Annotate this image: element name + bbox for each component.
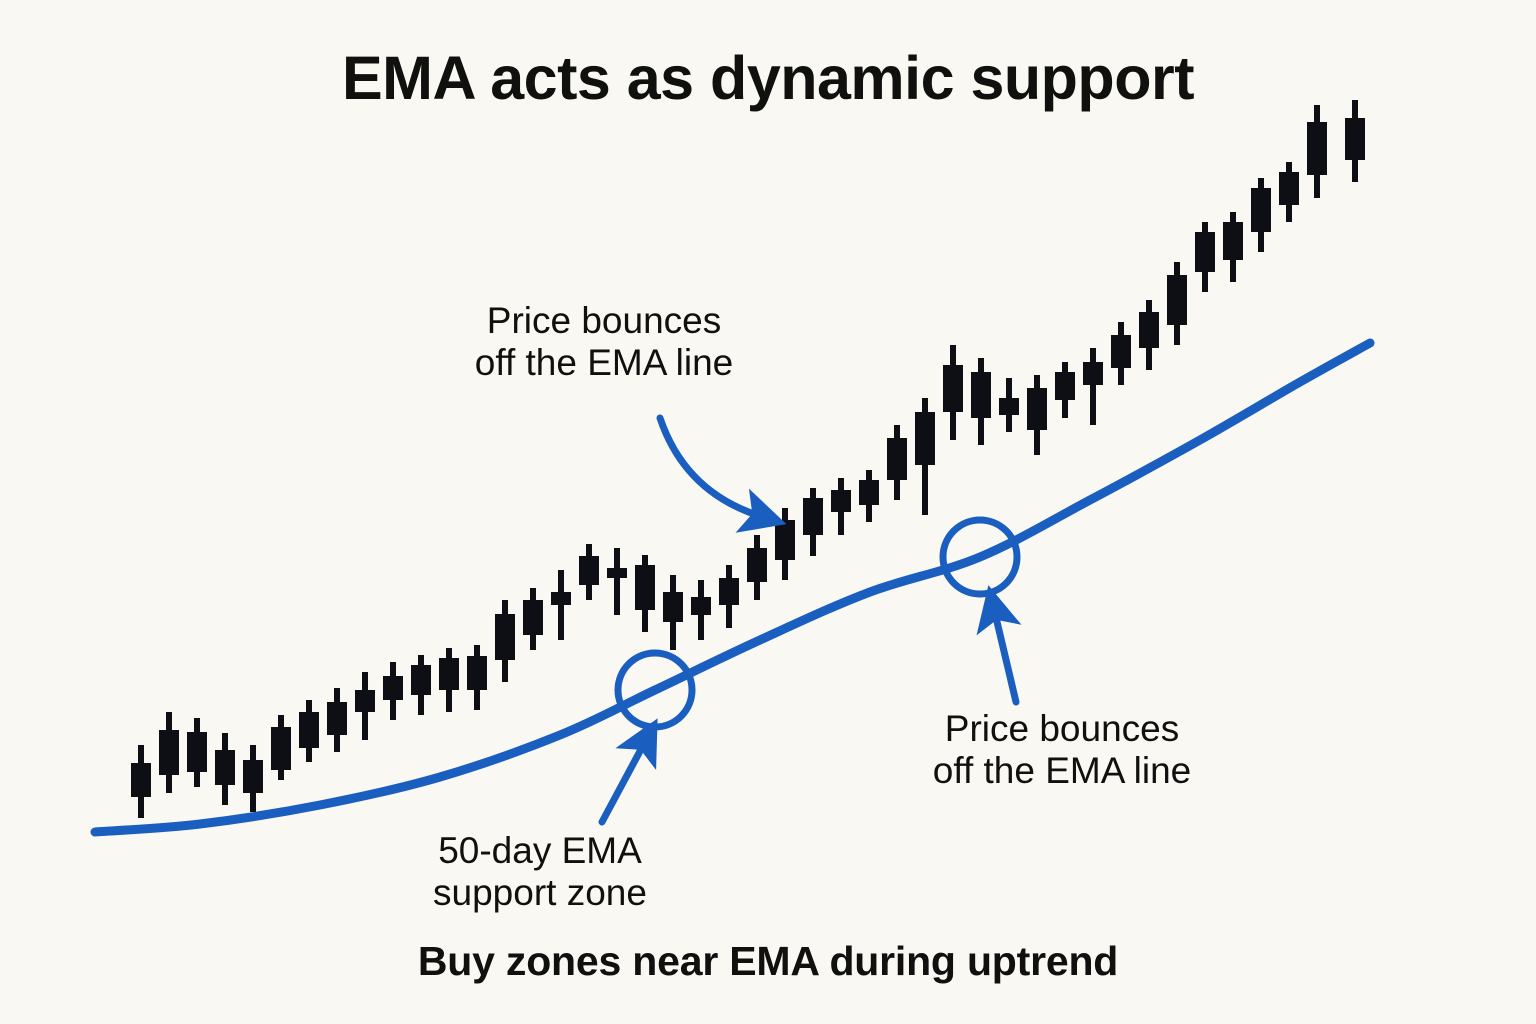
candle-body	[1279, 172, 1299, 205]
candle-body	[999, 398, 1019, 415]
candle-body	[551, 592, 571, 605]
candle-body	[635, 565, 655, 610]
candle-body	[355, 690, 375, 712]
candle-body	[719, 578, 739, 605]
candle-body	[803, 498, 823, 535]
candle-body	[691, 597, 711, 615]
candle-body	[887, 438, 907, 480]
chart-canvas: EMA acts as dynamic support Price bounce…	[0, 0, 1536, 1024]
candle-body	[579, 556, 599, 585]
candlestick-chart-svg	[0, 0, 1536, 1024]
candle-body	[1083, 362, 1103, 385]
page-title: EMA acts as dynamic support	[0, 44, 1536, 114]
candle-body	[159, 730, 179, 775]
candle-body	[1111, 335, 1131, 368]
candle-body	[943, 365, 963, 412]
candle-body	[383, 676, 403, 700]
candle-body	[215, 750, 235, 785]
candle-body	[327, 702, 347, 735]
candle-body	[467, 656, 487, 690]
candle-body	[607, 568, 627, 578]
candle-body	[775, 520, 795, 560]
candle-body	[131, 763, 151, 797]
candle-body	[1307, 122, 1327, 175]
candle-body	[971, 372, 991, 418]
candle-body	[1139, 312, 1159, 348]
support-zone-markers	[618, 520, 1017, 727]
candle-body	[1223, 222, 1243, 260]
arrow-support-zone	[602, 740, 646, 822]
annotation-right-bounce: Price bounces off the EMA line	[842, 708, 1282, 792]
candle-body	[747, 548, 767, 582]
candle-body	[1345, 118, 1365, 160]
candle-wick	[1090, 348, 1096, 425]
candle-body	[915, 412, 935, 465]
candle-body	[523, 600, 543, 635]
candle-body	[495, 614, 515, 660]
candle-body	[859, 480, 879, 505]
arrow-right-bounce	[994, 609, 1016, 702]
arrow-top-bounce	[660, 418, 763, 517]
candle-body	[187, 732, 207, 772]
candle-body	[1027, 388, 1047, 430]
annotation-top-bounce: Price bounces off the EMA line	[344, 300, 864, 384]
candle-body	[663, 592, 683, 622]
candle-body	[243, 760, 263, 793]
candle-body	[831, 490, 851, 512]
candle-body	[411, 665, 431, 695]
candle-body	[1195, 232, 1215, 272]
annotation-support-zone: 50-day EMA support zone	[360, 830, 720, 914]
candle-body	[299, 712, 319, 748]
candle-body	[1167, 275, 1187, 325]
candle-body	[1251, 188, 1271, 232]
candle-body	[271, 727, 291, 770]
candle-wick	[614, 548, 620, 615]
candle-body	[439, 658, 459, 690]
chart-caption: Buy zones near EMA during uptrend	[0, 938, 1536, 985]
candle-body	[1055, 372, 1075, 400]
